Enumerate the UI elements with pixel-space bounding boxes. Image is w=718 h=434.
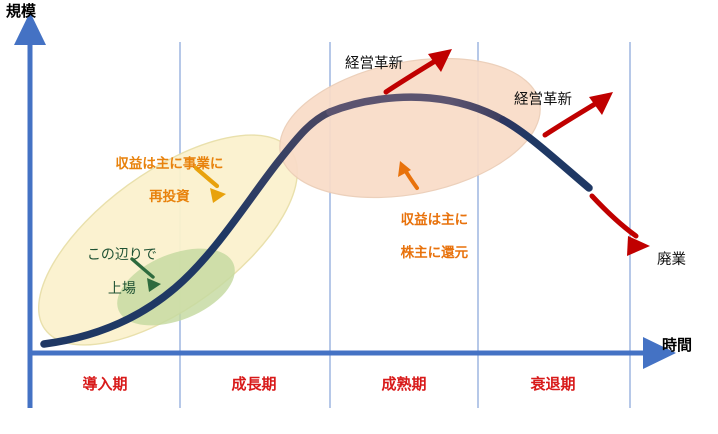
annotation-ipo-line2: 上場 <box>108 281 136 297</box>
y-axis-title: 規模 <box>6 2 36 20</box>
annotation-shareholder-return-line2: 株主に還元 <box>401 245 469 261</box>
annotation-reinvest-line1: 収益は主に事業に <box>115 156 223 172</box>
annotation-innovation-2: 経営革新 <box>503 92 583 110</box>
annotation-closure: 廃業 <box>657 252 686 270</box>
annotation-shareholder-return: 収益は主に 株主に還元 <box>370 196 480 278</box>
annotation-reinvest: 収益は主に事業に 再投資 <box>70 140 250 222</box>
annotation-ipo-line1: この辺りで <box>87 247 157 263</box>
decline-curve <box>503 120 589 188</box>
annotation-innovation-1: 経営革新 <box>334 56 414 74</box>
lifecycle-diagram: 規模 時間 収益は主に事業に 再投資 この辺りで 上場 収益は主に 株主に還元 … <box>0 0 718 434</box>
stage-label-decline: 衰退期 <box>503 375 603 393</box>
annotation-ipo: この辺りで 上場 <box>58 230 168 315</box>
stage-label-maturity: 成熟期 <box>354 375 454 393</box>
annotation-reinvest-line2: 再投資 <box>149 189 190 205</box>
closure-arrow <box>592 196 650 256</box>
stage-label-introduction: 導入期 <box>55 375 155 393</box>
x-axis-title: 時間 <box>662 336 692 354</box>
annotation-shareholder-return-line1: 収益は主に <box>401 212 469 228</box>
stage-label-growth: 成長期 <box>204 375 304 393</box>
